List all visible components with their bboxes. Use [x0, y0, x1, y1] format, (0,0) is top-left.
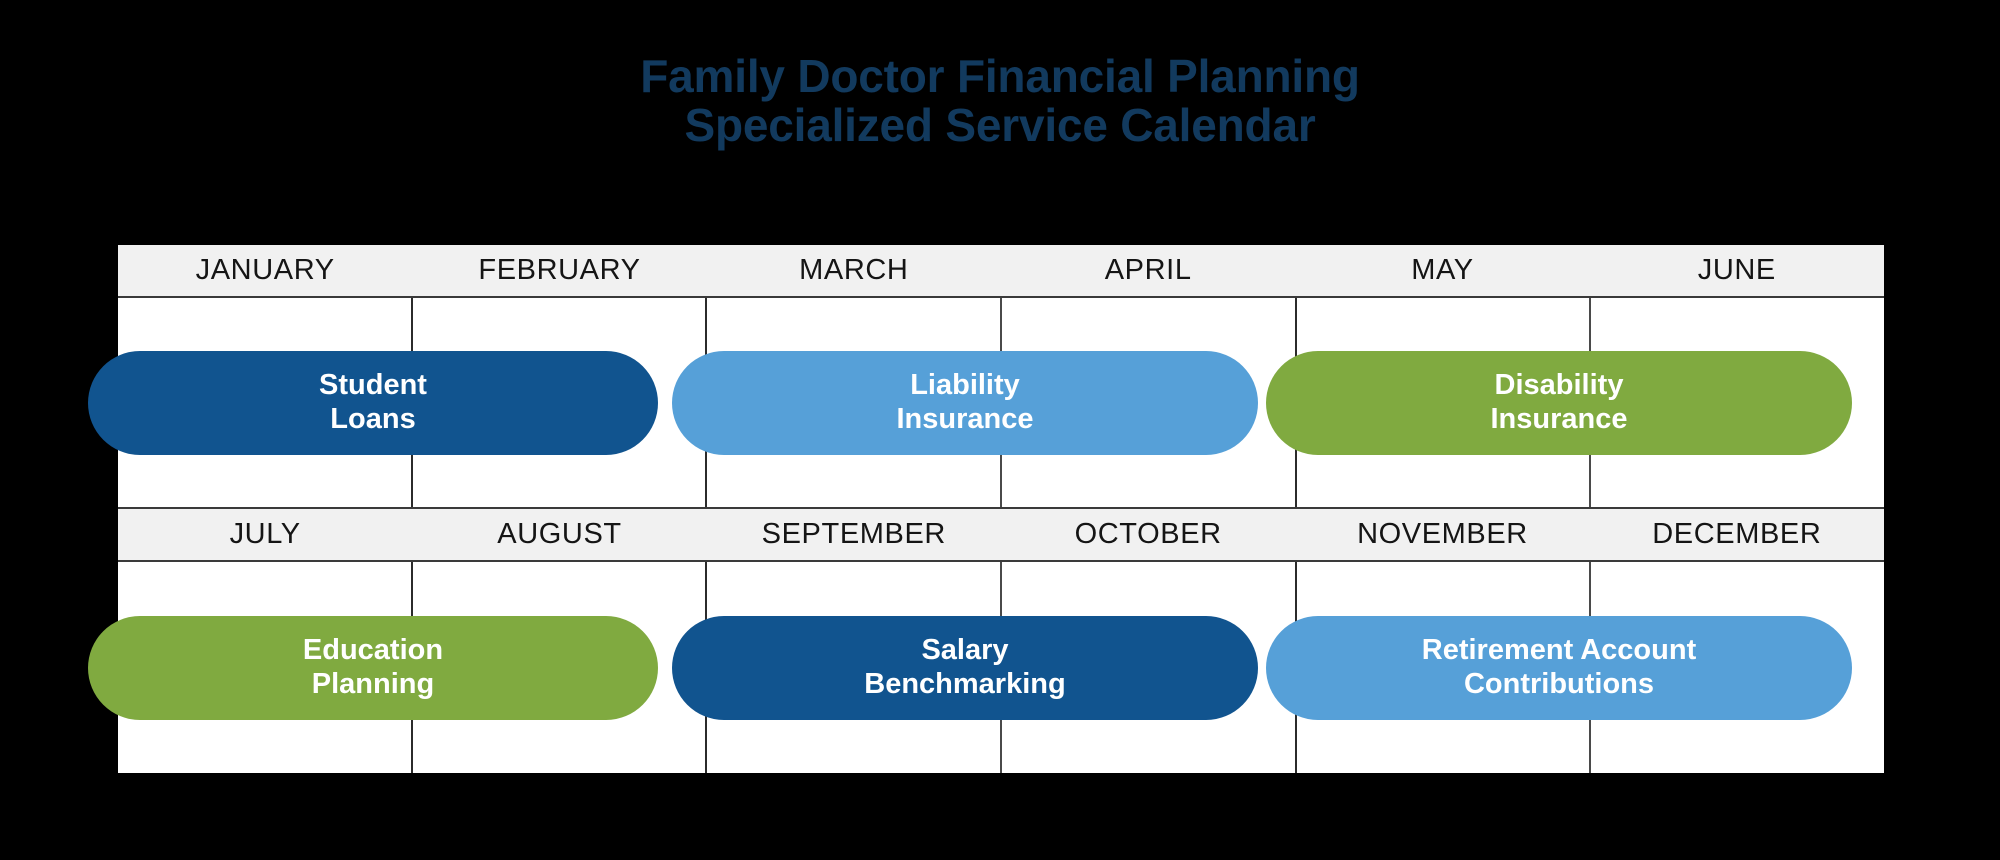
page-title-line-1: Family Doctor Financial Planning: [0, 52, 2000, 101]
month-label-october: OCTOBER: [1001, 509, 1295, 560]
infographic-canvas: Family Doctor Financial Planning Special…: [0, 0, 2000, 860]
month-label-february: FEBRUARY: [412, 245, 706, 296]
month-label-june: JUNE: [1590, 245, 1884, 296]
service-pill-student-loans[interactable]: Student Loans: [88, 351, 658, 455]
service-pill-line-1: Student: [319, 369, 427, 403]
month-label-may: MAY: [1295, 245, 1589, 296]
service-pill-line-1: Education: [303, 634, 443, 668]
service-pill-line-2: Insurance: [897, 403, 1034, 437]
service-pill-line-2: Benchmarking: [864, 668, 1065, 702]
month-label-april: APRIL: [1001, 245, 1295, 296]
month-label-march: MARCH: [707, 245, 1001, 296]
service-calendar: JANUARY FEBRUARY MARCH APRIL MAY JUNE: [118, 245, 1884, 773]
service-pill-liability-insurance[interactable]: Liability Insurance: [672, 351, 1258, 455]
calendar-body-row-2: Education Planning Salary Benchmarking R…: [118, 562, 1884, 773]
service-pill-salary-benchmarking[interactable]: Salary Benchmarking: [672, 616, 1258, 720]
service-pill-disability-insurance[interactable]: Disability Insurance: [1266, 351, 1852, 455]
service-pill-line-1: Retirement Account: [1422, 634, 1696, 668]
service-pill-line-1: Disability: [1495, 369, 1624, 403]
month-label-august: AUGUST: [412, 509, 706, 560]
service-pill-line-1: Liability: [910, 369, 1020, 403]
pill-layer-row-1: Student Loans Liability Insurance Disabi…: [118, 298, 1884, 507]
month-label-september: SEPTEMBER: [707, 509, 1001, 560]
page-title-line-2: Specialized Service Calendar: [0, 101, 2000, 150]
month-header-row-2: JULY AUGUST SEPTEMBER OCTOBER NOVEMBER D…: [118, 509, 1884, 562]
service-pill-line-2: Planning: [312, 668, 434, 702]
service-pill-line-1: Salary: [921, 634, 1008, 668]
calendar-body-row-1: Student Loans Liability Insurance Disabi…: [118, 298, 1884, 509]
month-label-december: DECEMBER: [1590, 509, 1884, 560]
month-header-row-1: JANUARY FEBRUARY MARCH APRIL MAY JUNE: [118, 245, 1884, 298]
service-pill-education-planning[interactable]: Education Planning: [88, 616, 658, 720]
month-label-july: JULY: [118, 509, 412, 560]
month-label-january: JANUARY: [118, 245, 412, 296]
service-pill-retirement-account-contributions[interactable]: Retirement Account Contributions: [1266, 616, 1852, 720]
page-title: Family Doctor Financial Planning Special…: [0, 52, 2000, 150]
calendar-half-second: JULY AUGUST SEPTEMBER OCTOBER NOVEMBER D…: [118, 509, 1884, 773]
month-label-november: NOVEMBER: [1295, 509, 1589, 560]
service-pill-line-2: Insurance: [1491, 403, 1628, 437]
pill-layer-row-2: Education Planning Salary Benchmarking R…: [118, 562, 1884, 773]
service-pill-line-2: Loans: [330, 403, 415, 437]
service-pill-line-2: Contributions: [1464, 668, 1654, 702]
calendar-half-first: JANUARY FEBRUARY MARCH APRIL MAY JUNE: [118, 245, 1884, 509]
